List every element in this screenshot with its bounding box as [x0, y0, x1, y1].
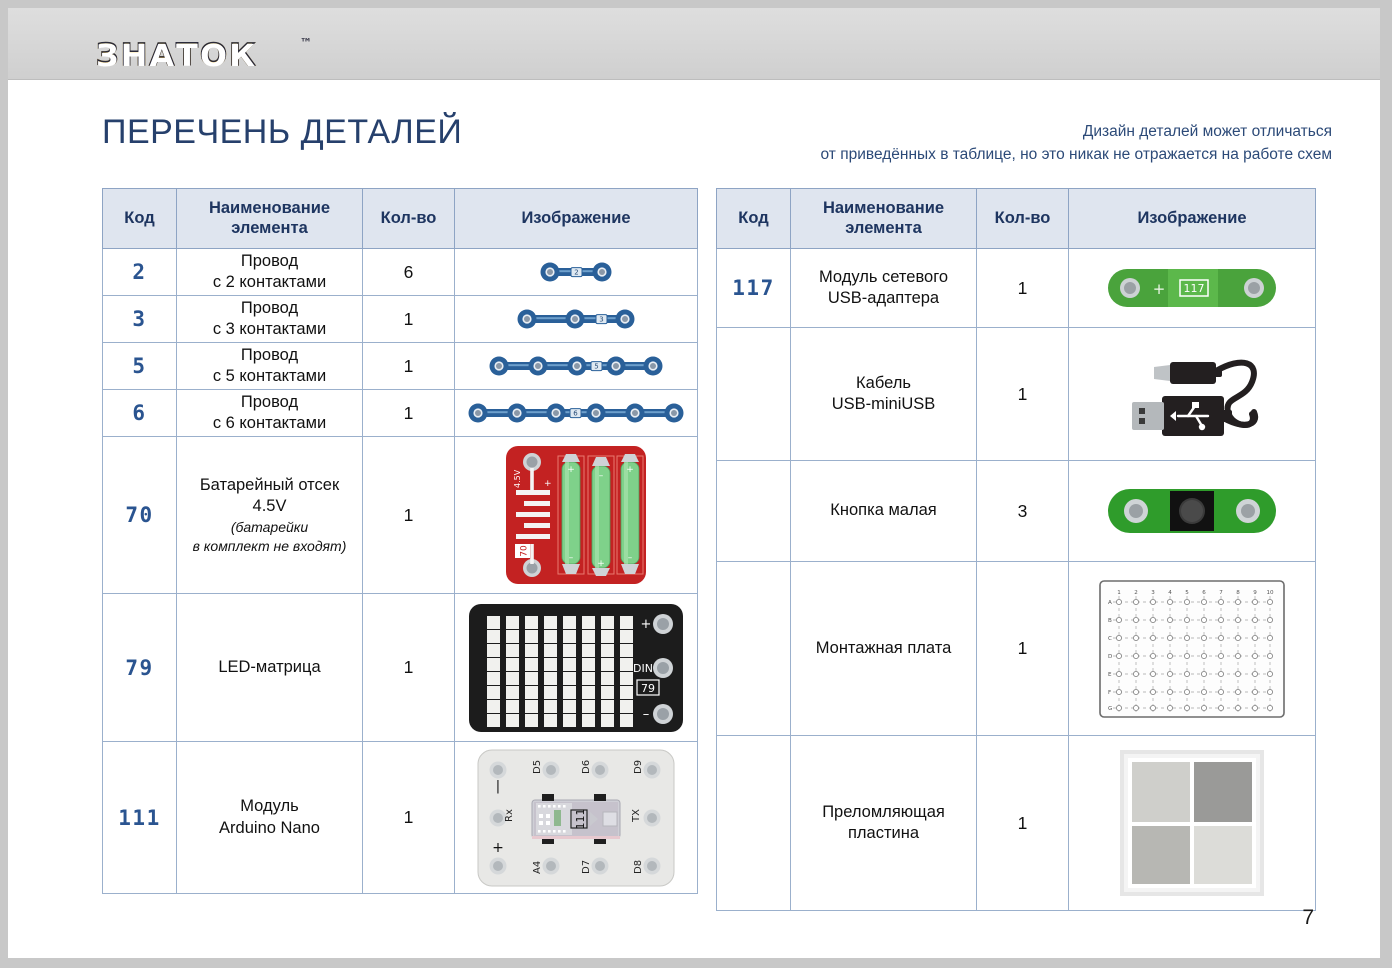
svg-text:3: 3 [599, 316, 603, 324]
table-row: 5 Провод с 5 контактами 1 [103, 343, 698, 390]
row-image: + DIN – 79 [455, 594, 698, 742]
table-row: Преломляющая пластина 1 [717, 736, 1316, 911]
svg-text:111: 111 [574, 808, 587, 829]
svg-text:+: + [1153, 280, 1166, 298]
parts-table-left: Код Наименование элемента Кол-во Изображ… [102, 188, 698, 894]
wire-5-contacts-icon: 5 [455, 355, 697, 377]
svg-text:F: F [1108, 690, 1111, 696]
svg-text:D7: D7 [581, 859, 592, 873]
header-name-line-1: Наименование [177, 199, 362, 219]
wire-6-contacts-icon: 6 [455, 402, 697, 424]
row-name: Батарейный отсек 4.5V (батарейки в компл… [177, 437, 363, 594]
row-image: + 117 [1069, 249, 1316, 328]
header-code: Код [103, 189, 177, 249]
svg-text:B: B [1108, 618, 1112, 624]
svg-text:–: – [643, 707, 650, 722]
page-margin-left [0, 0, 8, 968]
svg-text:G: G [1108, 706, 1112, 712]
header-quantity: Кол-во [363, 189, 455, 249]
svg-text:D8: D8 [633, 859, 644, 873]
row-name-line-1: Монтажная плата [791, 638, 976, 659]
svg-text:8: 8 [1236, 590, 1240, 596]
row-image: 2 [455, 249, 698, 296]
row-image: D5 D6 D9 A4 D7 D8 Rx TX | + [455, 742, 698, 894]
row-name-line-1: Модуль [177, 796, 362, 817]
svg-text:+: + [492, 840, 504, 856]
svg-text:–: – [569, 553, 574, 563]
row-name-line-2: 4.5V [177, 496, 362, 517]
row-image [1069, 461, 1316, 562]
svg-text:DIN: DIN [633, 662, 653, 675]
row-image: 12345 678910 ABCD EFG [1069, 562, 1316, 736]
svg-text:79: 79 [641, 682, 655, 695]
row-code: 117 [717, 249, 791, 328]
page-margin-right [1380, 0, 1392, 968]
row-name-line-1: Модуль сетевого [791, 267, 976, 288]
row-name-line-2: пластина [791, 823, 976, 844]
note-line-2: от приведённых в таблице, но это никак н… [821, 143, 1332, 166]
row-code: 70 [103, 437, 177, 594]
page-sheet: ЗНАТОК ™ ПЕРЕЧЕНЬ ДЕТАЛЕЙ Дизайн деталей… [8, 8, 1380, 958]
svg-text:E: E [1108, 672, 1112, 678]
row-image: 5 [455, 343, 698, 390]
table-row: Монтажная плата 1 [717, 562, 1316, 736]
row-name-note-1: (батарейки [177, 519, 362, 536]
svg-text:6: 6 [573, 410, 578, 418]
mounting-board-icon: 12345 678910 ABCD EFG [1069, 578, 1315, 720]
table-header-row: Код Наименование элемента Кол-во Изображ… [103, 189, 698, 249]
row-name-line-1: Кнопка малая [791, 500, 976, 521]
row-quantity: 1 [363, 437, 455, 594]
row-name: Кнопка малая [791, 461, 977, 562]
battery-holder-icon: + 4.5V 70 [455, 444, 697, 586]
svg-text:4.5V: 4.5V [513, 469, 522, 488]
table-row: 70 Батарейный отсек 4.5V (батарейки в ко… [103, 437, 698, 594]
table-row: 79 LED-матрица 1 [103, 594, 698, 742]
row-code [717, 461, 791, 562]
document-page: ЗНАТОК ™ ПЕРЕЧЕНЬ ДЕТАЛЕЙ Дизайн деталей… [0, 0, 1392, 968]
svg-text:3: 3 [1151, 590, 1155, 596]
row-name-line-2: с 6 контактами [177, 413, 362, 434]
design-disclaimer-note: Дизайн деталей может отличаться от приве… [821, 120, 1332, 167]
svg-text:–: – [599, 471, 604, 481]
table-row: 2 Провод с 2 контактами 6 [103, 249, 698, 296]
svg-text:9: 9 [1253, 590, 1257, 596]
svg-text:10: 10 [1266, 590, 1274, 596]
row-code: 111 [103, 742, 177, 894]
row-code: 5 [103, 343, 177, 390]
row-name: Модуль Arduino Nano [177, 742, 363, 894]
header-image: Изображение [1069, 189, 1316, 249]
parts-table-right-wrapper: Код Наименование элемента Кол-во Изображ… [716, 188, 1316, 911]
header-code: Код [717, 189, 791, 249]
row-name: Модуль сетевого USB-адаптера [791, 249, 977, 328]
header-name-line-1: Наименование [791, 199, 976, 219]
row-quantity: 1 [363, 296, 455, 343]
svg-text:+: + [597, 559, 605, 569]
row-code: 2 [103, 249, 177, 296]
small-button-module-icon [1069, 483, 1315, 539]
row-name-line-1: Провод [177, 251, 362, 272]
svg-text:D9: D9 [633, 759, 644, 773]
page-title: ПЕРЕЧЕНЬ ДЕТАЛЕЙ [102, 113, 462, 152]
table-row: 117 Модуль сетевого USB-адаптера 1 [717, 249, 1316, 328]
row-code: 3 [103, 296, 177, 343]
header-name-line-2: элемента [791, 219, 976, 239]
refracting-plate-icon [1069, 750, 1315, 896]
row-name-line-2: с 5 контактами [177, 366, 362, 387]
table-header-row: Код Наименование элемента Кол-во Изображ… [717, 189, 1316, 249]
row-name-line-2: с 3 контактами [177, 319, 362, 340]
row-image: + 4.5V 70 [455, 437, 698, 594]
usb-mini-usb-cable-icon [1069, 338, 1315, 450]
row-name-line-2: Arduino Nano [177, 818, 362, 839]
row-quantity: 6 [363, 249, 455, 296]
page-margin-bottom [0, 958, 1392, 968]
header-quantity: Кол-во [977, 189, 1069, 249]
usb-adapter-module-icon: + 117 [1069, 263, 1315, 313]
svg-text:4: 4 [1168, 590, 1172, 596]
row-code: 79 [103, 594, 177, 742]
row-quantity: 1 [363, 742, 455, 894]
table-row: 111 Модуль Arduino Nano 1 [103, 742, 698, 894]
row-code [717, 328, 791, 461]
wire-2-contacts-icon: 2 [455, 261, 697, 283]
row-name: Монтажная плата [791, 562, 977, 736]
row-name: Провод с 2 контактами [177, 249, 363, 296]
header-name: Наименование элемента [791, 189, 977, 249]
parts-table-right: Код Наименование элемента Кол-во Изображ… [716, 188, 1316, 911]
znatok-logo: ЗНАТОК [96, 38, 257, 73]
row-quantity: 1 [977, 249, 1069, 328]
wire-3-contacts-icon: 3 [455, 308, 697, 330]
row-name: LED-матрица [177, 594, 363, 742]
row-name-line-1: Провод [177, 298, 362, 319]
svg-text:A: A [1108, 600, 1112, 606]
row-image: 3 [455, 296, 698, 343]
row-quantity: 1 [363, 390, 455, 437]
svg-text:C: C [1108, 636, 1112, 642]
svg-text:6: 6 [1202, 590, 1206, 596]
svg-text:TX: TX [631, 808, 642, 822]
row-quantity: 1 [977, 562, 1069, 736]
row-code [717, 562, 791, 736]
row-name: Преломляющая пластина [791, 736, 977, 911]
header-name-line-2: элемента [177, 219, 362, 239]
svg-text:–: – [628, 553, 633, 563]
parts-table-left-wrapper: Код Наименование элемента Кол-во Изображ… [102, 188, 698, 894]
row-image: 6 [455, 390, 698, 437]
row-name-line-1: Провод [177, 392, 362, 413]
row-name-line-1: Кабель [791, 373, 976, 394]
svg-text:5: 5 [594, 363, 598, 371]
led-matrix-icon: + DIN – 79 [455, 602, 697, 734]
svg-text:70: 70 [520, 545, 530, 557]
svg-text:D6: D6 [581, 759, 592, 773]
svg-text:1: 1 [1117, 590, 1121, 596]
svg-text:+: + [641, 617, 652, 632]
svg-text:2: 2 [1134, 590, 1138, 596]
row-name-line-1: Преломляющая [791, 802, 976, 823]
row-name-line-1: Батарейный отсек [177, 475, 362, 496]
svg-text:+: + [626, 465, 634, 475]
page-margin-top [0, 0, 1392, 8]
row-code [717, 736, 791, 911]
row-quantity: 1 [977, 328, 1069, 461]
row-name-line-2: с 2 контактами [177, 272, 362, 293]
row-quantity: 1 [363, 343, 455, 390]
header-image: Изображение [455, 189, 698, 249]
row-quantity: 1 [363, 594, 455, 742]
header-name: Наименование элемента [177, 189, 363, 249]
row-name-line-1: LED-матрица [177, 657, 362, 678]
row-quantity: 3 [977, 461, 1069, 562]
row-quantity: 1 [977, 736, 1069, 911]
table-row: 6 Провод с 6 контактами 1 [103, 390, 698, 437]
svg-text:5: 5 [1185, 590, 1189, 596]
row-name-line-2: USB-адаптера [791, 288, 976, 309]
svg-text:7: 7 [1219, 590, 1223, 596]
svg-text:D: D [1108, 654, 1112, 660]
row-name-line-2: USB-miniUSB [791, 394, 976, 415]
table-row: 3 Провод с 3 контактами 1 [103, 296, 698, 343]
arduino-nano-module-icon: D5 D6 D9 A4 D7 D8 Rx TX | + [455, 748, 697, 888]
svg-text:117: 117 [1184, 282, 1205, 295]
svg-text:Rx: Rx [504, 809, 515, 822]
row-name: Кабель USB-miniUSB [791, 328, 977, 461]
page-number: 7 [1302, 906, 1314, 930]
trademark-symbol: ™ [300, 36, 312, 50]
row-code: 6 [103, 390, 177, 437]
svg-text:2: 2 [574, 269, 578, 277]
header-band: ЗНАТОК ™ [8, 8, 1380, 80]
svg-text:A4: A4 [532, 860, 543, 873]
row-name: Провод с 3 контактами [177, 296, 363, 343]
note-line-1: Дизайн деталей может отличаться [821, 120, 1332, 143]
row-name-line-1: Провод [177, 345, 362, 366]
table-row: Кнопка малая 3 [717, 461, 1316, 562]
svg-text:+: + [567, 465, 575, 475]
row-name: Провод с 5 контактами [177, 343, 363, 390]
row-image [1069, 328, 1316, 461]
svg-text:+: + [544, 479, 552, 489]
table-row: Кабель USB-miniUSB 1 [717, 328, 1316, 461]
row-name: Провод с 6 контактами [177, 390, 363, 437]
row-name-note-2: в комплект не входят) [177, 538, 362, 555]
svg-text:|: | [496, 779, 500, 794]
svg-text:D5: D5 [532, 759, 543, 773]
row-image [1069, 736, 1316, 911]
